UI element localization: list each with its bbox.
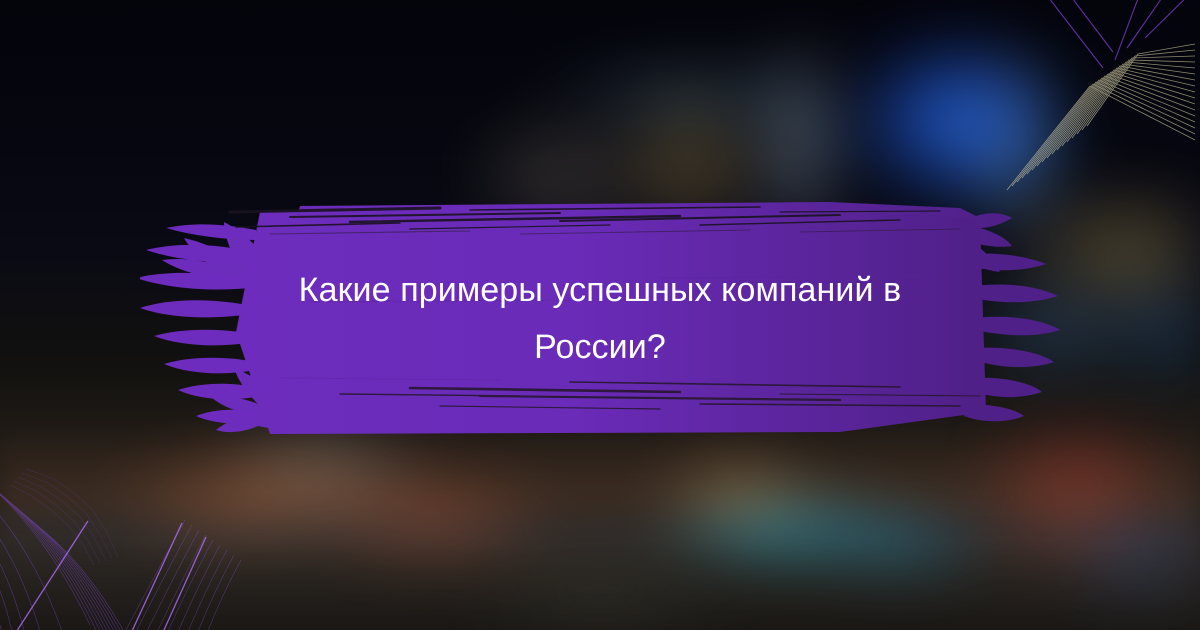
page-title: Какие примеры успешных компаний в России… xyxy=(190,262,1010,376)
wireframe-mesh-icon xyxy=(0,425,310,630)
quote-card: Какие примеры успешных компаний в России… xyxy=(0,0,1200,630)
chevron-mesh-icon xyxy=(995,0,1200,205)
